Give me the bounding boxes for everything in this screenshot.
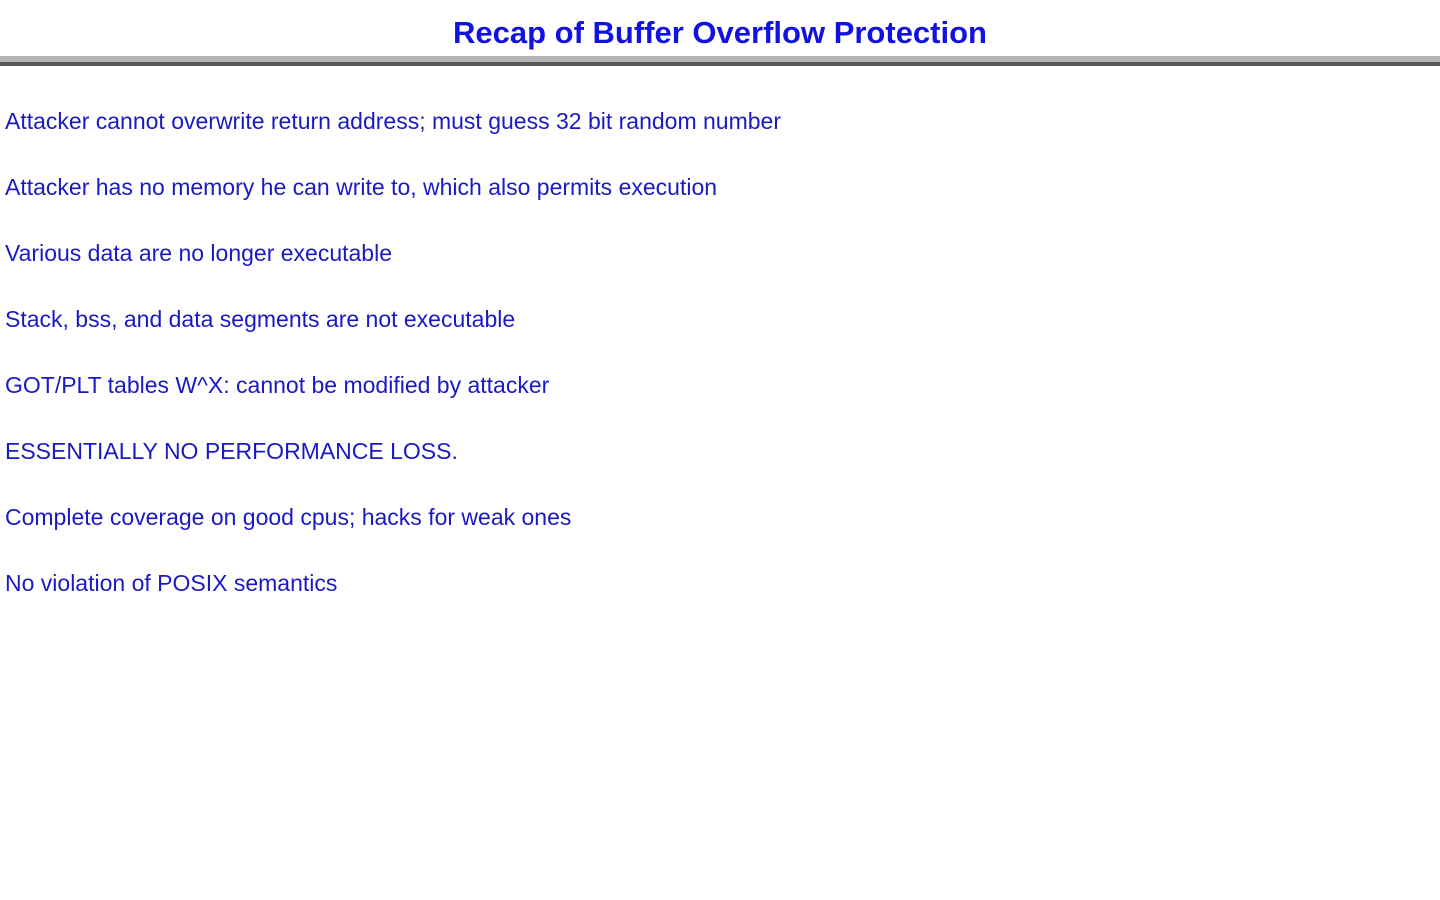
page-title: Recap of Buffer Overflow Protection <box>0 14 1440 52</box>
divider-dark-band <box>0 62 1440 66</box>
slide-body: Attacker cannot overwrite return address… <box>5 107 1425 635</box>
body-line: No violation of POSIX semantics <box>5 569 1425 635</box>
body-line: Complete coverage on good cpus; hacks fo… <box>5 503 1425 569</box>
body-line: Attacker has no memory he can write to, … <box>5 173 1425 239</box>
body-line: Various data are no longer executable <box>5 239 1425 305</box>
body-line: Stack, bss, and data segments are not ex… <box>5 305 1425 371</box>
body-line: GOT/PLT tables W^X: cannot be modified b… <box>5 371 1425 437</box>
body-line: ESSENTIALLY NO PERFORMANCE LOSS. <box>5 437 1425 503</box>
presentation-slide: Recap of Buffer Overflow Protection Atta… <box>0 0 1440 900</box>
body-line: Attacker cannot overwrite return address… <box>5 107 1425 173</box>
title-divider <box>0 56 1440 66</box>
